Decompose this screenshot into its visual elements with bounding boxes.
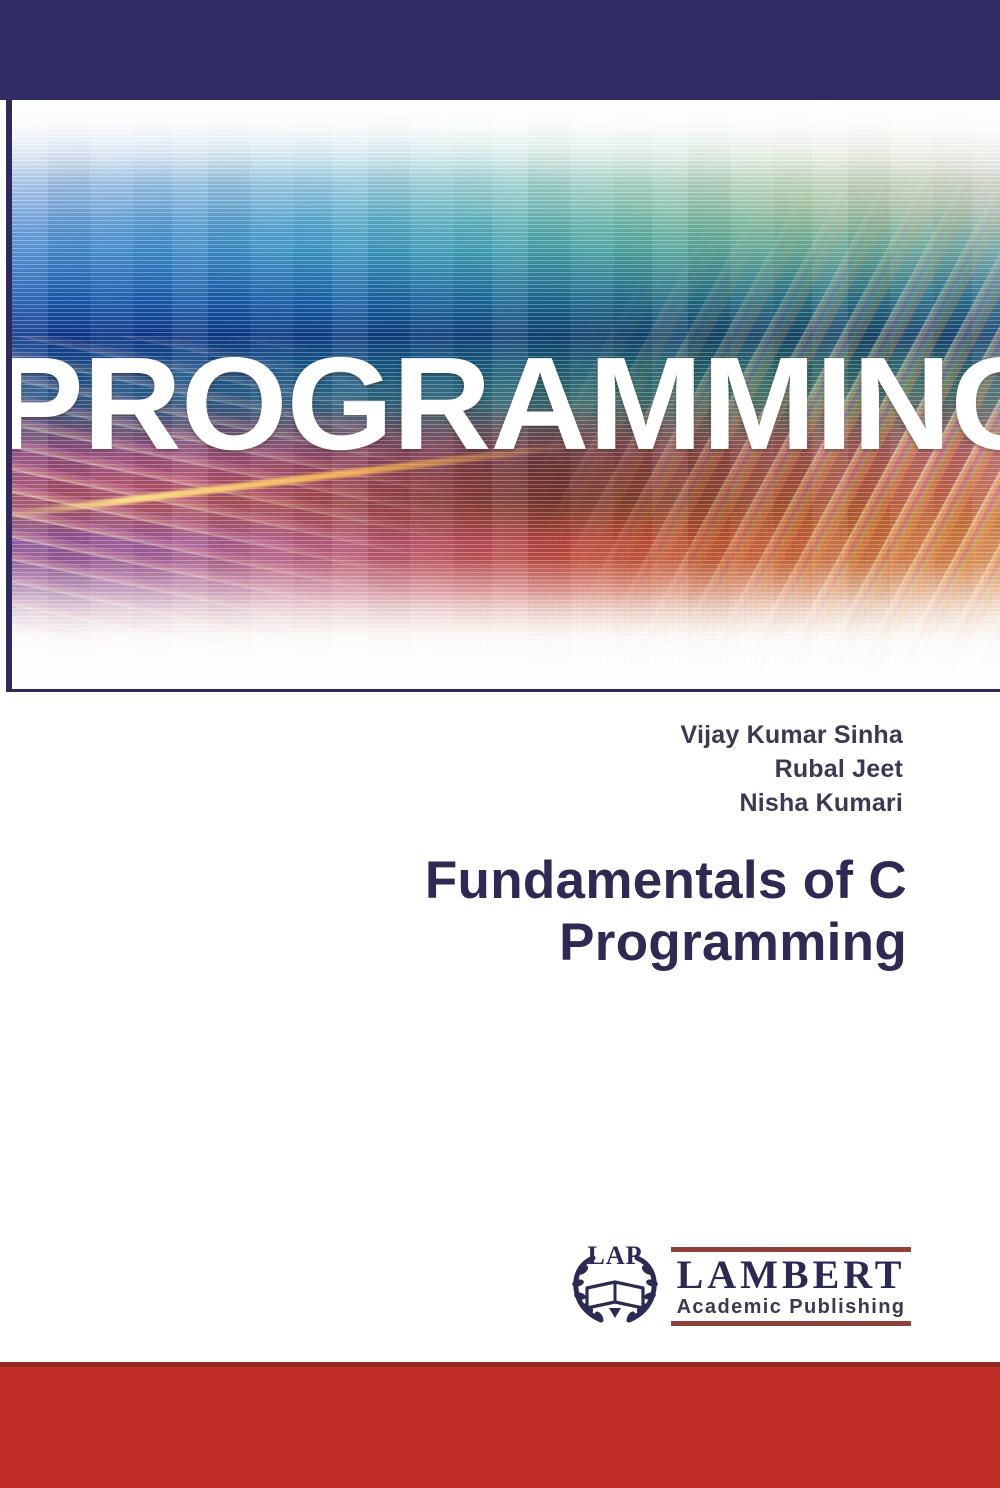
bottom-color-band (0, 1367, 1000, 1488)
author-name-1: Vijay Kumar Sinha (681, 718, 903, 752)
logo-rule-top (671, 1247, 911, 1252)
svg-text:LAP: LAP (588, 1242, 643, 1270)
book-title-line-2: Programming (167, 912, 907, 974)
author-name-2: Rubal Jeet (681, 752, 903, 786)
author-list: Vijay Kumar Sinha Rubal Jeet Nisha Kumar… (681, 718, 903, 820)
author-name-3: Nisha Kumari (681, 786, 903, 820)
lap-emblem-icon: LAP (563, 1242, 667, 1330)
book-title-line-1: Fundamentals of C (167, 850, 907, 912)
cover-artwork: PROGRAMMING (12, 100, 1000, 689)
publisher-logo: LAP LAMBERT Academic Publishing (563, 1240, 911, 1332)
logo-rule-bottom (671, 1321, 911, 1326)
top-color-band (0, 0, 1000, 100)
publisher-wordmark: LAMBERT Academic Publishing (667, 1247, 911, 1326)
cover-artwork-frame: PROGRAMMING (6, 100, 1000, 692)
publisher-name: LAMBERT (671, 1255, 911, 1295)
publisher-tagline: Academic Publishing (671, 1295, 911, 1319)
artwork-headline-word: PROGRAMMING (12, 338, 1000, 470)
book-title: Fundamentals of C Programming (167, 850, 907, 974)
